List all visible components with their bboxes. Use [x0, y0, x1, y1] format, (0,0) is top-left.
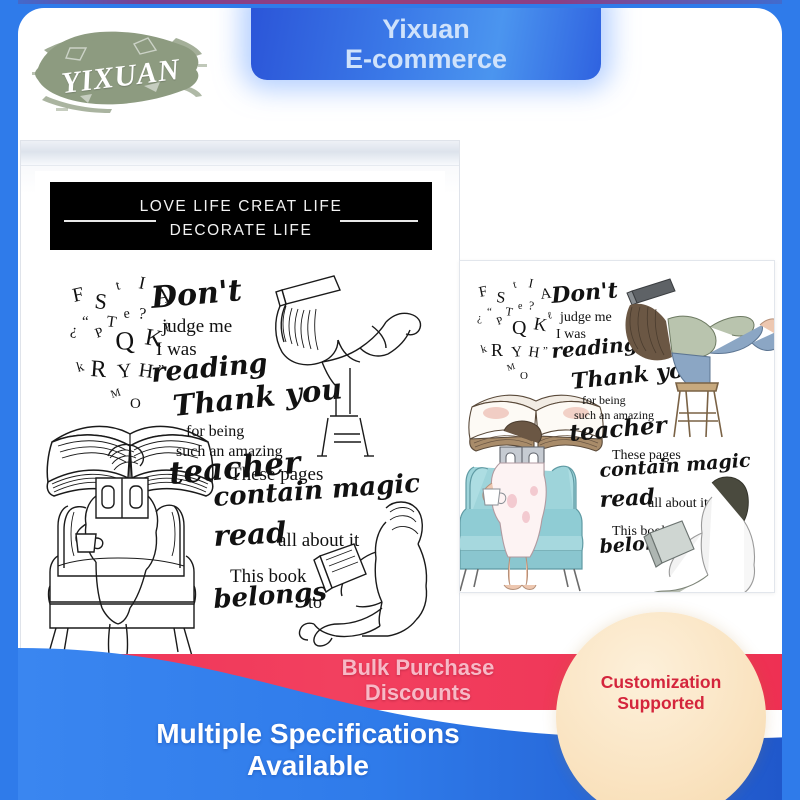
- svg-text:“: “: [82, 314, 89, 330]
- svg-text:for being: for being: [186, 423, 244, 440]
- svg-text:¿: ¿: [69, 322, 78, 339]
- svg-text:for being: for being: [582, 393, 626, 407]
- svg-text:k: k: [75, 359, 86, 375]
- svg-text:?: ?: [137, 305, 147, 323]
- svg-text:Y: Y: [116, 360, 133, 383]
- brand-badge: Yixuan E-commerce: [251, 8, 601, 80]
- girl-on-stool-art: [276, 276, 421, 456]
- multi-line2: Available: [58, 750, 558, 782]
- svg-text:Don't: Don't: [149, 273, 244, 316]
- customization-badge-text: Customization Supported: [556, 672, 766, 714]
- phrase-dont-judge-art: Don't judge me I was reading: [149, 273, 269, 389]
- top-accent-strip: [0, 0, 800, 4]
- svg-text:Q: Q: [512, 317, 527, 339]
- svg-text:e: e: [123, 306, 131, 322]
- svg-text:judge me: judge me: [559, 310, 612, 325]
- sheet-header-bar: LOVE LIFE CREAT LIFE DECORATE LIFE: [50, 182, 432, 250]
- colored-sample-panel: F S t I A ¿ “ P T e ? Q K ℓ k R Y: [459, 260, 775, 593]
- svg-text:judge me: judge me: [161, 316, 232, 337]
- svg-text:to: to: [308, 592, 322, 612]
- brand-logo: YIXUAN: [26, 20, 211, 120]
- bulk-purchase-text: Bulk Purchase Discounts: [268, 656, 568, 705]
- product-marketing-image: YIXUAN Yixuan E-commerce LOVE LIFE CREAT…: [0, 0, 800, 800]
- svg-text:F: F: [70, 283, 85, 307]
- customization-line2: Supported: [556, 693, 766, 714]
- sheet-header-line2: DECORATE LIFE: [50, 222, 432, 240]
- svg-text:“: “: [487, 306, 492, 318]
- multiple-specs-text: Multiple Specifications Available: [58, 718, 558, 782]
- multi-line1: Multiple Specifications: [58, 718, 558, 750]
- svg-text:¿: ¿: [477, 312, 482, 324]
- svg-text:Y: Y: [511, 344, 524, 361]
- svg-text:”: ”: [543, 345, 548, 357]
- svg-text:e: e: [518, 301, 523, 312]
- brand-badge-line2: E-commerce: [345, 44, 507, 74]
- right-blue-rail: [782, 0, 800, 800]
- phrase-read-all-art: read all about it: [213, 515, 360, 553]
- svg-text:R: R: [491, 340, 503, 360]
- bag-seal-strip: [21, 141, 459, 166]
- svg-text:R: R: [90, 356, 108, 383]
- phrase-this-book-art: This book belongs to: [212, 566, 328, 615]
- svg-text:I: I: [137, 272, 147, 293]
- svg-text:all about it: all about it: [648, 496, 708, 511]
- svg-text:t: t: [114, 278, 122, 294]
- bulk-line1: Bulk Purchase: [268, 656, 568, 681]
- left-blue-rail: [0, 0, 18, 800]
- bulk-line2: Discounts: [268, 681, 568, 706]
- sheet-header-line1: LOVE LIFE CREAT LIFE: [50, 198, 432, 216]
- brand-badge-line1: Yixuan: [382, 15, 470, 43]
- customization-line1: Customization: [556, 672, 766, 693]
- svg-text:read: read: [213, 515, 287, 553]
- stamp-artwork-lineart: F S t I A ¿ “ P T e ? Q K ℓ k R Y: [34, 256, 454, 666]
- svg-text:S: S: [93, 288, 108, 314]
- girl-floor-reading-art: [299, 502, 426, 646]
- svg-text:S: S: [496, 289, 507, 307]
- svg-text:O: O: [520, 370, 528, 382]
- svg-text:Q: Q: [114, 326, 135, 356]
- svg-text:P: P: [93, 325, 106, 342]
- svg-text:read: read: [599, 484, 656, 513]
- svg-text:M: M: [109, 386, 122, 401]
- svg-text:O: O: [130, 396, 141, 412]
